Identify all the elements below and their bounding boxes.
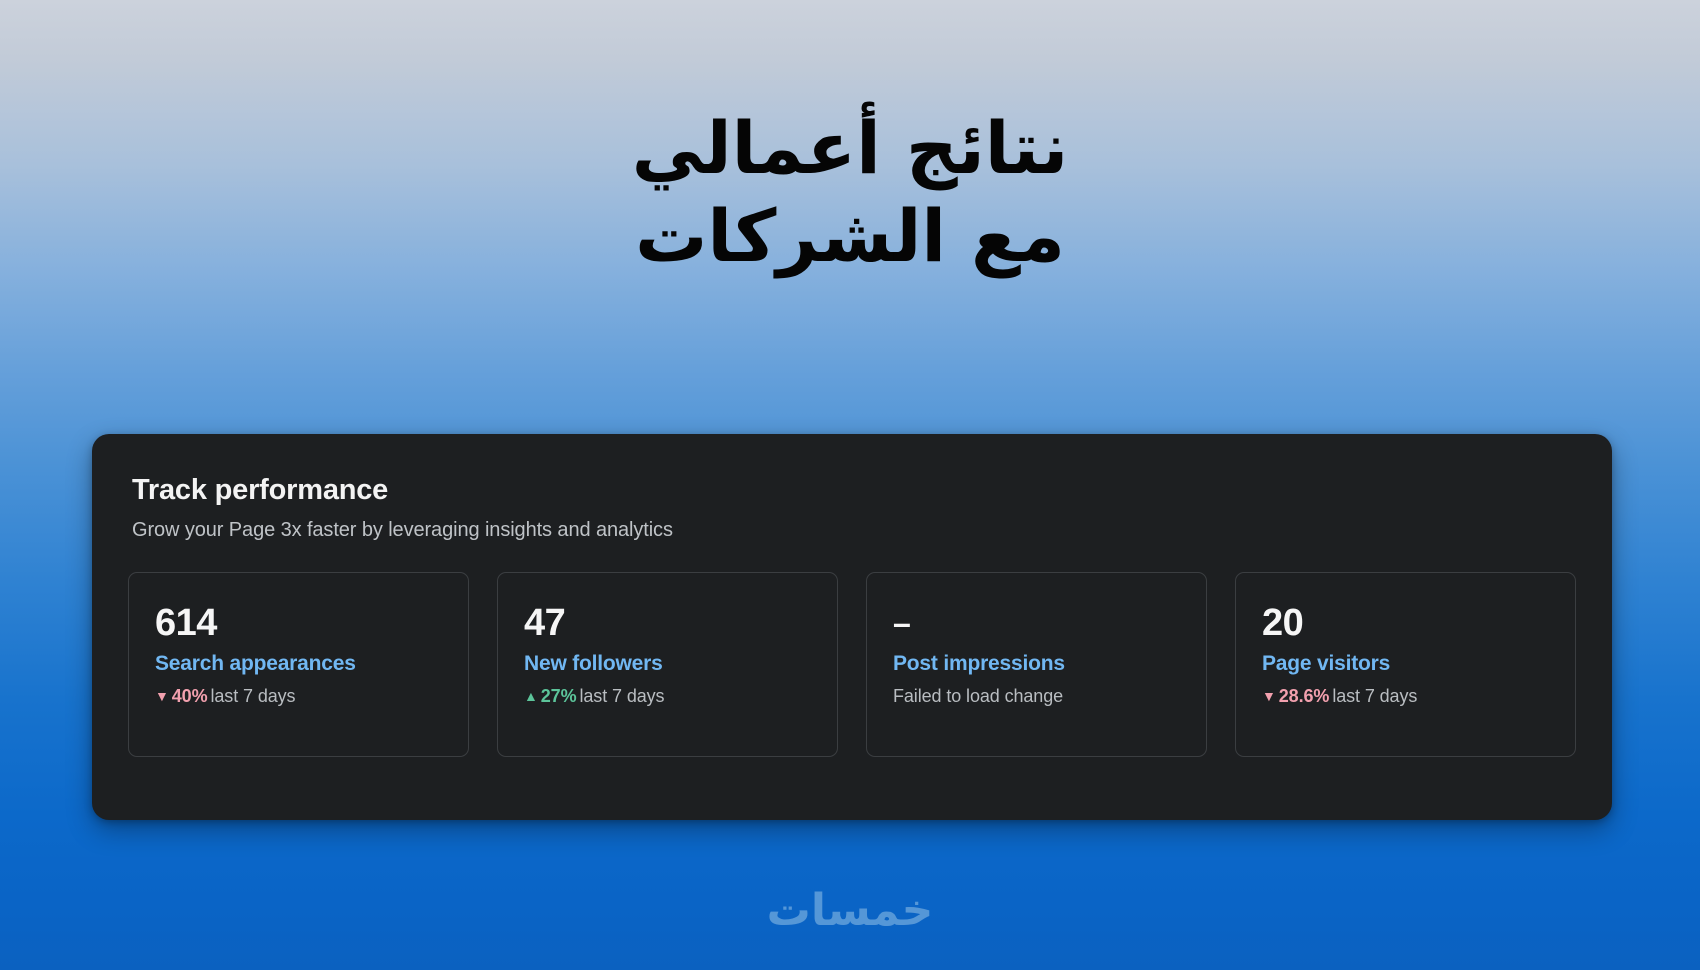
stat-delta: ▼ 40% last 7 days bbox=[155, 686, 442, 707]
stat-label[interactable]: New followers bbox=[524, 652, 811, 676]
stat-tile-post-impressions[interactable]: – Post impressions Failed to load change bbox=[866, 572, 1207, 757]
stat-tile-search-appearances[interactable]: 614 Search appearances ▼ 40% last 7 days bbox=[128, 572, 469, 757]
hero-line-2: مع الشركات bbox=[0, 193, 1700, 281]
stat-delta-percent: 28.6% bbox=[1279, 686, 1330, 707]
stat-error-message: Failed to load change bbox=[893, 686, 1180, 707]
stat-tile-page-visitors[interactable]: 20 Page visitors ▼ 28.6% last 7 days bbox=[1235, 572, 1576, 757]
khamsat-watermark: خمسات bbox=[0, 885, 1700, 936]
stats-tile-row: 614 Search appearances ▼ 40% last 7 days… bbox=[116, 572, 1588, 757]
stat-delta-period: last 7 days bbox=[1332, 686, 1417, 707]
stat-delta-period: last 7 days bbox=[211, 686, 296, 707]
stat-value: 20 bbox=[1262, 601, 1549, 645]
stat-delta: ▲ 27% last 7 days bbox=[524, 686, 811, 707]
hero-line-1: نتائج أعمالي bbox=[0, 105, 1700, 193]
panel-title: Track performance bbox=[116, 474, 1588, 507]
hero-heading: نتائج أعمالي مع الشركات bbox=[0, 105, 1700, 281]
panel-subtitle: Grow your Page 3x faster by leveraging i… bbox=[116, 519, 1588, 542]
stat-delta-percent: 40% bbox=[172, 686, 208, 707]
trend-up-icon: ▲ bbox=[524, 689, 538, 703]
stat-tile-new-followers[interactable]: 47 New followers ▲ 27% last 7 days bbox=[497, 572, 838, 757]
stat-delta-period: last 7 days bbox=[580, 686, 665, 707]
stat-value: 614 bbox=[155, 601, 442, 645]
trend-down-icon: ▼ bbox=[1262, 689, 1276, 703]
stat-value: 47 bbox=[524, 601, 811, 645]
stat-label[interactable]: Search appearances bbox=[155, 652, 442, 676]
stat-delta: ▼ 28.6% last 7 days bbox=[1262, 686, 1549, 707]
stat-label[interactable]: Page visitors bbox=[1262, 652, 1549, 676]
track-performance-panel: Track performance Grow your Page 3x fast… bbox=[92, 434, 1612, 820]
stat-label[interactable]: Post impressions bbox=[893, 652, 1180, 676]
stat-value: – bbox=[893, 601, 1180, 645]
stat-delta-percent: 27% bbox=[541, 686, 577, 707]
trend-down-icon: ▼ bbox=[155, 689, 169, 703]
